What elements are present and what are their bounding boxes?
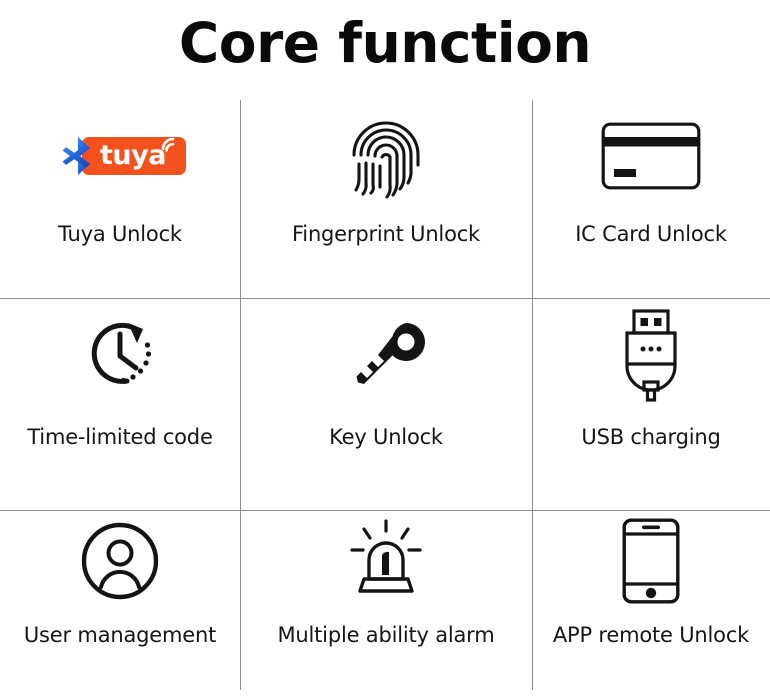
tuya-bluetooth-logo: tuya [54,133,186,179]
user-circle-icon-wrap [80,511,160,611]
wifi-arc-icon [158,135,182,155]
siren-alarm-icon-wrap [344,511,428,611]
smartphone-icon [622,518,680,604]
key-icon-wrap [344,299,428,411]
feature-cell-tuya-unlock[interactable]: tuya Tuya Unlock [0,100,240,298]
ic-card-icon-wrap [601,100,701,212]
feature-label: Key Unlock [329,425,443,449]
feature-cell-user-management[interactable]: User management [0,511,240,692]
grid-divider-vertical [240,100,241,690]
feature-cell-key-unlock[interactable]: Key Unlock [240,299,532,497]
fingerprint-icon-wrap [349,100,423,212]
feature-label: USB charging [581,425,720,449]
grid-divider-horizontal [0,298,770,299]
ic-card-icon [601,122,701,190]
tuya-wordmark: tuya [100,140,166,172]
feature-label: User management [24,623,216,647]
feature-row: tuya Tuya Unlock [0,100,770,298]
grid-divider-horizontal [0,510,770,511]
usb-plug-icon [617,308,685,402]
feature-label: Fingerprint Unlock [292,222,480,246]
page-title: Core function [0,0,770,92]
tuya-bluetooth-logo-wrap: tuya [54,100,186,212]
feature-cell-multiple-ability-alarm[interactable]: Multiple ability alarm [240,511,532,692]
siren-alarm-icon [344,519,428,603]
clock-arrow-icon-wrap [76,299,164,411]
usb-plug-icon-wrap [617,299,685,411]
feature-label: Tuya Unlock [58,222,182,246]
feature-cell-fingerprint-unlock[interactable]: Fingerprint Unlock [240,100,532,298]
smartphone-icon-wrap [622,511,680,611]
feature-row: Time-limited code Key Unlock [0,299,770,497]
feature-label: Multiple ability alarm [277,623,494,647]
grid-divider-vertical [532,100,533,690]
feature-label: IC Card Unlock [575,222,727,246]
feature-cell-app-remote-unlock[interactable]: APP remote Unlock [532,511,770,692]
fingerprint-icon [349,111,423,201]
feature-label: Time-limited code [27,425,212,449]
feature-row: User management Multiple abilit [0,511,770,692]
key-icon [344,313,428,397]
feature-label: APP remote Unlock [553,623,749,647]
feature-grid: tuya Tuya Unlock [0,100,770,692]
feature-cell-time-limited-code[interactable]: Time-limited code [0,299,240,497]
user-circle-icon [80,521,160,601]
bluetooth-icon [54,133,102,179]
clock-arrow-icon [76,311,164,399]
feature-cell-usb-charging[interactable]: USB charging [532,299,770,497]
feature-cell-ic-card-unlock[interactable]: IC Card Unlock [532,100,770,298]
